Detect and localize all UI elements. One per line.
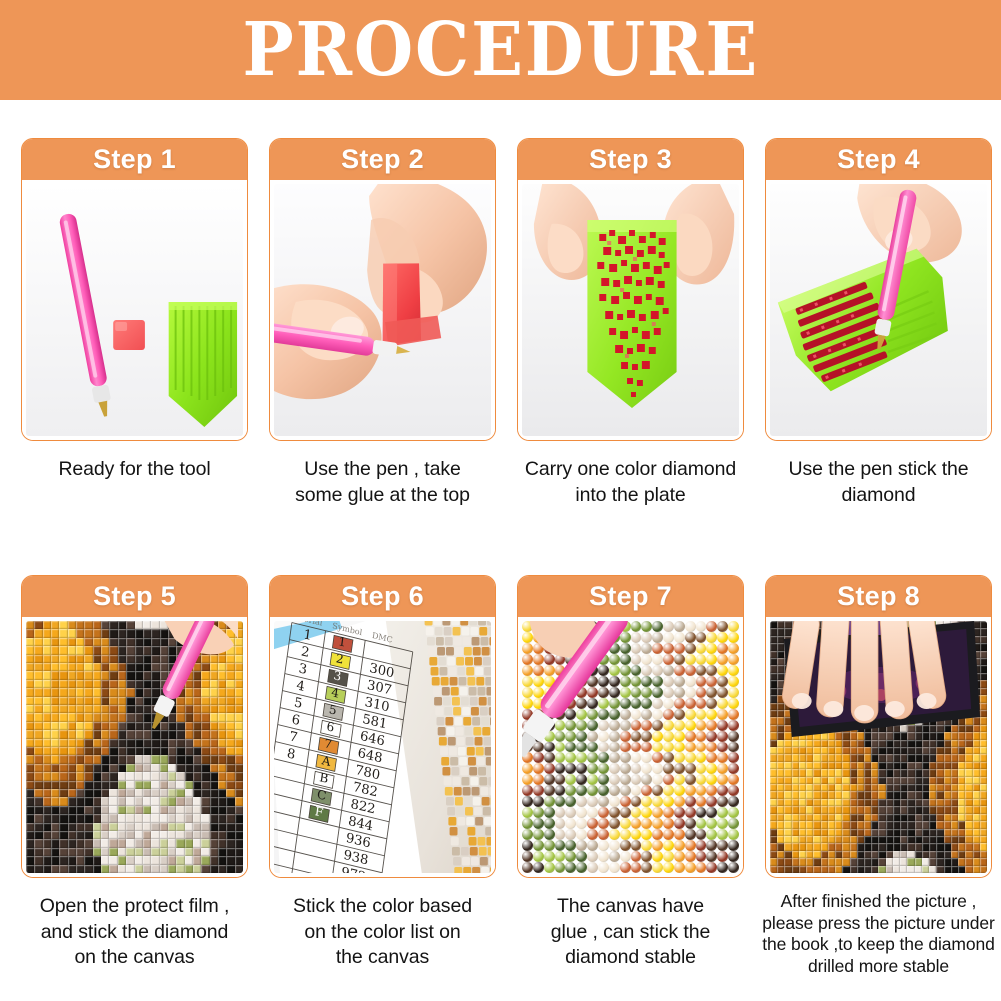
step-caption-3: Carry one color diamondinto the plate [513,457,748,508]
photo-glue-canvas [522,621,739,873]
page-title: PROCEDURE [242,13,759,87]
photo-pour-diamonds [522,184,739,436]
step-body-1 [22,180,247,440]
step-header-3: Step 3 [517,138,744,180]
step-card-5[interactable]: Step 5 [21,575,248,878]
pour-diamonds-illustration [522,184,739,436]
step-header-7: Step 7 [517,575,744,617]
step-label-5: Step 5 [93,581,176,612]
step-card-8[interactable]: Step 8 [765,575,992,878]
step-caption-1: Ready for the tool [17,457,252,483]
step-cell-4: Step 4 [765,138,992,508]
step-header-8: Step 8 [765,575,992,617]
step-label-7: Step 7 [589,581,672,612]
photo-tool-kit [26,184,243,436]
steps-row-2: Step 5 [0,575,1001,978]
color-chart-illustration: 12345678 1234567ABCF 3003073105816466487… [274,621,491,873]
step-label-8: Step 8 [837,581,920,612]
pen-overlay-7 [522,621,739,873]
step-label-4: Step 4 [837,144,920,175]
step-label-1: Step 1 [93,144,176,175]
page-header-banner: PROCEDURE [0,0,1001,100]
step-card-1[interactable]: Step 1 [21,138,248,441]
step-card-6[interactable]: Step 6 [269,575,496,878]
step-header-1: Step 1 [21,138,248,180]
step-cell-7: Step 7 [517,575,744,978]
step-caption-8: After finished the picture ,please press… [757,891,1000,978]
step-body-6: 12345678 1234567ABCF 3003073105816466487… [270,617,495,877]
pick-diamond-illustration [770,184,987,436]
step-body-3 [518,180,743,440]
step-cell-6: Step 6 [269,575,496,978]
step-cell-3: Step 3 [517,138,744,508]
step-card-3[interactable]: Step 3 [517,138,744,441]
step-body-4 [766,180,991,440]
step-body-7 [518,617,743,877]
pen-glue-illustration [274,184,491,436]
book-and-hands-overlay [770,621,987,873]
step-label-3: Step 3 [589,144,672,175]
step-body-2 [270,180,495,440]
step-header-2: Step 2 [269,138,496,180]
photo-pick-diamond [770,184,987,436]
pen-overlay-5 [26,621,243,873]
step-caption-6: Stick the color basedon the color list o… [265,894,500,971]
step-card-2[interactable]: Step 2 [269,138,496,441]
step-header-5: Step 5 [21,575,248,617]
step-label-6: Step 6 [341,581,424,612]
step-caption-2: Use the pen , takesome glue at the top [265,457,500,508]
step-header-4: Step 4 [765,138,992,180]
step-label-2: Step 2 [341,144,424,175]
steps-row-1: Step 1 [0,138,1001,508]
step-caption-4: Use the pen stick thediamond [761,457,996,508]
step-cell-2: Step 2 [269,138,496,508]
step-card-4[interactable]: Step 4 [765,138,992,441]
step-body-8 [766,617,991,877]
step-caption-5: Open the protect film ,and stick the dia… [17,894,252,971]
tool-kit-illustration [26,184,243,436]
photo-color-chart: 12345678 1234567ABCF 3003073105816466487… [274,621,491,873]
photo-press-book [770,621,987,873]
step-body-5 [22,617,247,877]
step-cell-5: Step 5 [21,575,248,978]
step-header-6: Step 6 [269,575,496,617]
photo-stick-on-canvas [26,621,243,873]
step-card-7[interactable]: Step 7 [517,575,744,878]
step-cell-1: Step 1 [21,138,248,508]
step-caption-7: The canvas haveglue , can stick thediamo… [513,894,748,971]
step-cell-8: Step 8 [765,575,992,978]
photo-pen-glue [274,184,491,436]
svg-text:C: C [316,787,327,803]
